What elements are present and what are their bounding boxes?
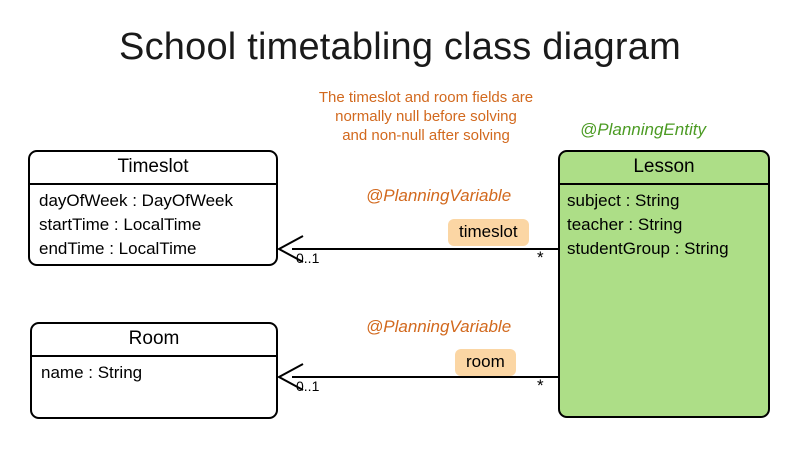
stereotype-planning-variable-timeslot: @PlanningVariable bbox=[366, 186, 511, 206]
multiplicity-room-target: * bbox=[537, 376, 544, 396]
attribute-row: teacher : String bbox=[567, 213, 768, 237]
note-line-2: normally null before solving bbox=[280, 107, 572, 126]
class-box-lesson[interactable]: Lesson subject : String teacher : String… bbox=[558, 150, 770, 418]
note-line-1: The timeslot and room fields are bbox=[280, 88, 572, 107]
class-name-timeslot: Timeslot bbox=[30, 152, 276, 185]
page-title: School timetabling class diagram bbox=[0, 26, 800, 69]
multiplicity-timeslot-target: * bbox=[537, 248, 544, 268]
role-badge-room[interactable]: room bbox=[455, 349, 516, 376]
note-line-3: and non-null after solving bbox=[280, 126, 572, 145]
attribute-row: subject : String bbox=[567, 189, 768, 213]
attribute-row: studentGroup : String bbox=[567, 237, 768, 261]
role-badge-timeslot[interactable]: timeslot bbox=[448, 219, 529, 246]
stereotype-planning-entity: @PlanningEntity bbox=[580, 120, 706, 140]
class-name-lesson: Lesson bbox=[560, 152, 768, 185]
class-attributes-lesson: subject : String teacher : String studen… bbox=[560, 185, 768, 261]
class-diagram-canvas: School timetabling class diagram The tim… bbox=[0, 0, 800, 450]
multiplicity-timeslot-source: 0..1 bbox=[296, 250, 319, 266]
multiplicity-room-source: 0..1 bbox=[296, 378, 319, 394]
diagram-note: The timeslot and room fields are normall… bbox=[280, 88, 572, 145]
attribute-row: startTime : LocalTime bbox=[39, 213, 276, 237]
class-box-room[interactable]: Room name : String bbox=[30, 322, 278, 419]
attribute-row: dayOfWeek : DayOfWeek bbox=[39, 189, 276, 213]
class-box-timeslot[interactable]: Timeslot dayOfWeek : DayOfWeek startTime… bbox=[28, 150, 278, 266]
class-attributes-timeslot: dayOfWeek : DayOfWeek startTime : LocalT… bbox=[30, 185, 276, 261]
attribute-row: endTime : LocalTime bbox=[39, 237, 276, 261]
attribute-row: name : String bbox=[41, 361, 276, 385]
stereotype-planning-variable-room: @PlanningVariable bbox=[366, 317, 511, 337]
class-name-room: Room bbox=[32, 324, 276, 357]
class-attributes-room: name : String bbox=[32, 357, 276, 385]
